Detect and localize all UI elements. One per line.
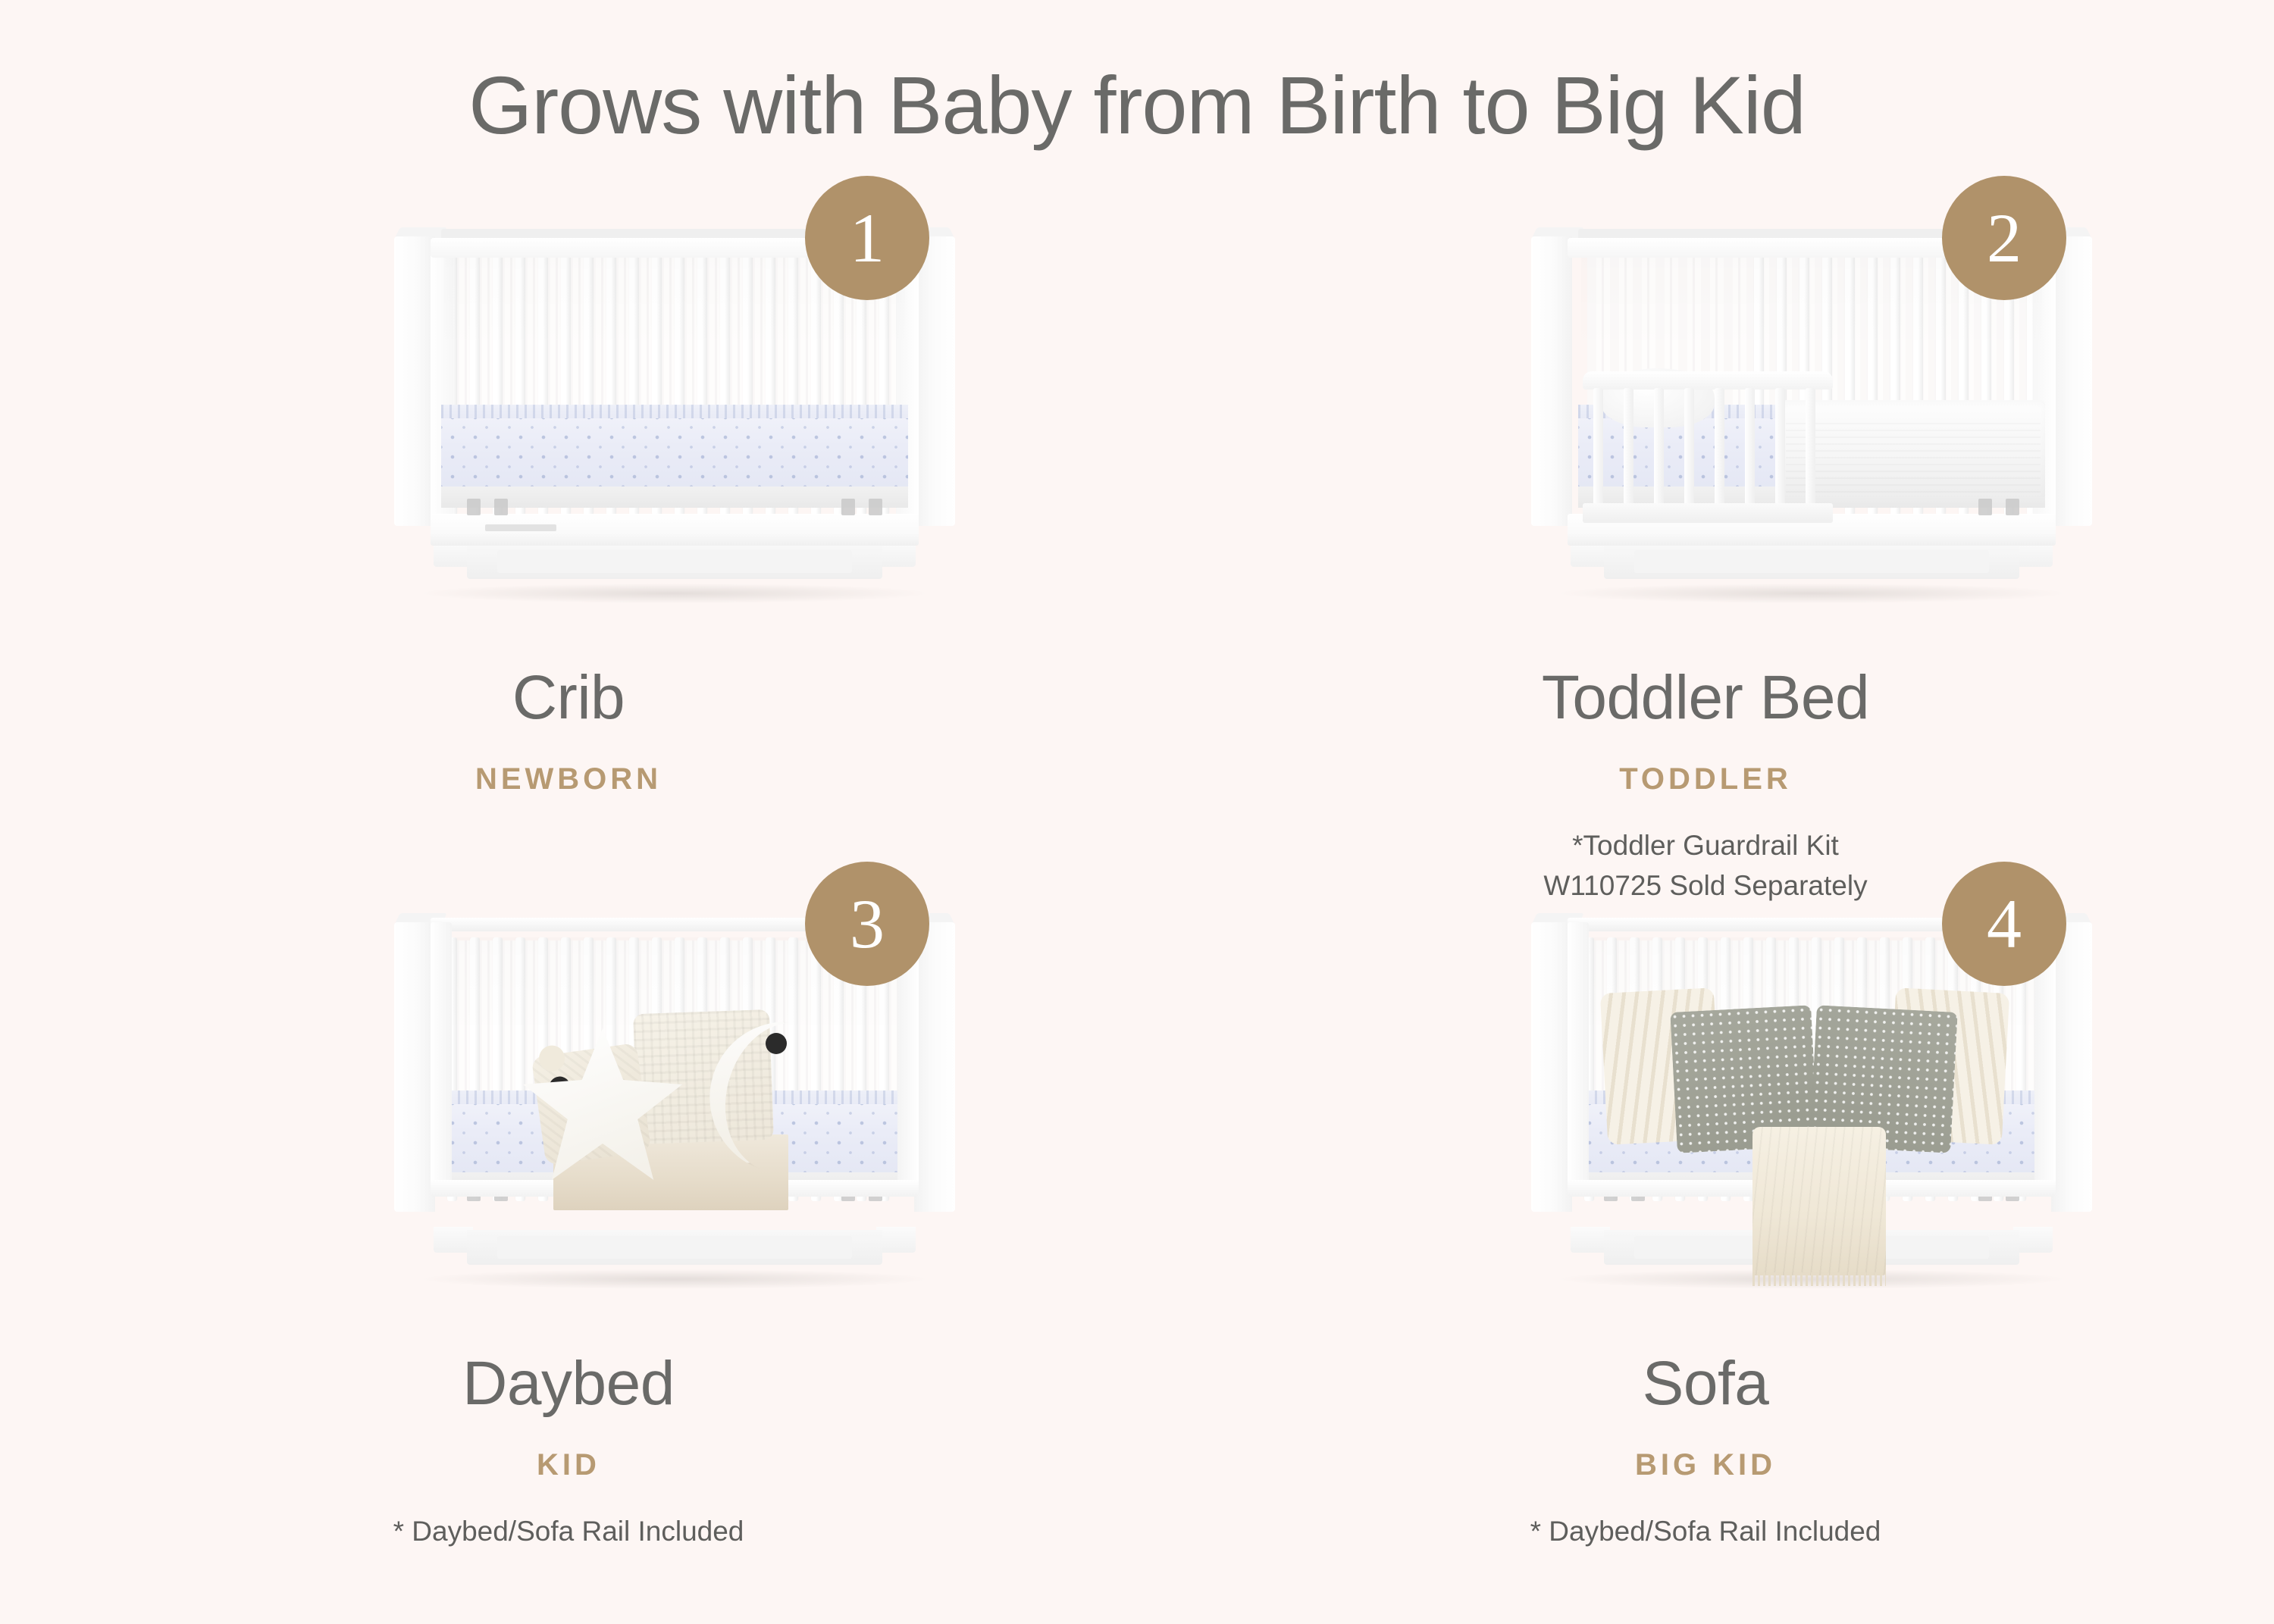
- side-panel-left: [394, 236, 435, 526]
- toddler-guardrail: [1583, 371, 1833, 523]
- corner-post-front-left: [431, 922, 452, 1197]
- step-number-badge-3: 3: [805, 862, 929, 986]
- product-note: * Daybed/Sofa Rail Included: [1137, 1512, 2274, 1552]
- step-card-crib: 1: [0, 189, 1137, 796]
- guardrail-bottom-bar: [1583, 503, 1833, 523]
- caption-sofa: Sofa BIG KID * Daybed/Sofa Rail Included: [1137, 1351, 2274, 1552]
- floor-shadow: [1561, 584, 2062, 603]
- base-plinth-inset: [1634, 550, 1989, 573]
- step-card-sofa: 4: [1137, 875, 2274, 1552]
- side-panel-right: [2051, 922, 2092, 1212]
- side-panel-right: [2051, 236, 2092, 526]
- mattress-side: [441, 487, 908, 508]
- caption-crib: Crib NEWBORN: [0, 665, 1137, 796]
- stage-label: TODDLER: [1137, 762, 2274, 796]
- fitted-sheet: [441, 408, 908, 493]
- stage-label: KID: [0, 1448, 1137, 1482]
- product-name: Toddler Bed: [1137, 665, 2274, 731]
- product-note: * Daybed/Sofa Rail Included: [0, 1512, 1137, 1552]
- corner-post-front-left: [1568, 922, 1589, 1197]
- stage-label: NEWBORN: [0, 762, 1137, 796]
- side-panel-right: [914, 236, 955, 526]
- sofa-photo-stage: 4: [1137, 875, 2274, 1345]
- side-panel-left: [394, 922, 435, 1212]
- caption-toddler-bed: Toddler Bed TODDLER *Toddler Guardrail K…: [1137, 665, 2274, 906]
- throw-fringe: [1752, 1272, 1886, 1286]
- step-number-badge-1: 1: [805, 176, 929, 300]
- stage-label: BIG KID: [1137, 1448, 2274, 1482]
- caption-daybed: Daybed KID * Daybed/Sofa Rail Included: [0, 1351, 1137, 1552]
- crib-photo-stage: 1: [0, 189, 1137, 659]
- conversion-steps-grid: 1: [0, 189, 2274, 1624]
- daybed-photo-stage: 3: [0, 875, 1137, 1345]
- step-number-badge-2: 2: [1942, 176, 2066, 300]
- base-plinth-inset: [497, 550, 852, 573]
- fitted-sheet-top: [441, 405, 908, 418]
- brand-logo-plate: [485, 524, 556, 531]
- product-name: Crib: [0, 665, 1137, 731]
- side-panel-left: [1531, 236, 1572, 526]
- step-card-toddler-bed: 2: [1137, 189, 2274, 906]
- base-plinth-inset: [497, 1236, 852, 1259]
- floor-shadow: [424, 1269, 925, 1289]
- product-note-line-1: *Toddler Guardrail Kit: [1137, 826, 2274, 866]
- toddler-bed-photo-stage: 2: [1137, 189, 2274, 659]
- step-card-daybed: 3: [0, 875, 1137, 1552]
- side-panel-right: [914, 922, 955, 1212]
- floor-shadow: [424, 584, 925, 603]
- product-name: Daybed: [0, 1351, 1137, 1416]
- cream-fringed-throw: [1752, 1127, 1886, 1275]
- step-number-badge-4: 4: [1942, 862, 2066, 986]
- side-panel-left: [1531, 922, 1572, 1212]
- page-title: Grows with Baby from Birth to Big Kid: [0, 61, 2274, 151]
- guardrail-top-bar: [1583, 371, 1833, 390]
- product-name: Sofa: [1137, 1351, 2274, 1416]
- moon-eye: [766, 1033, 787, 1054]
